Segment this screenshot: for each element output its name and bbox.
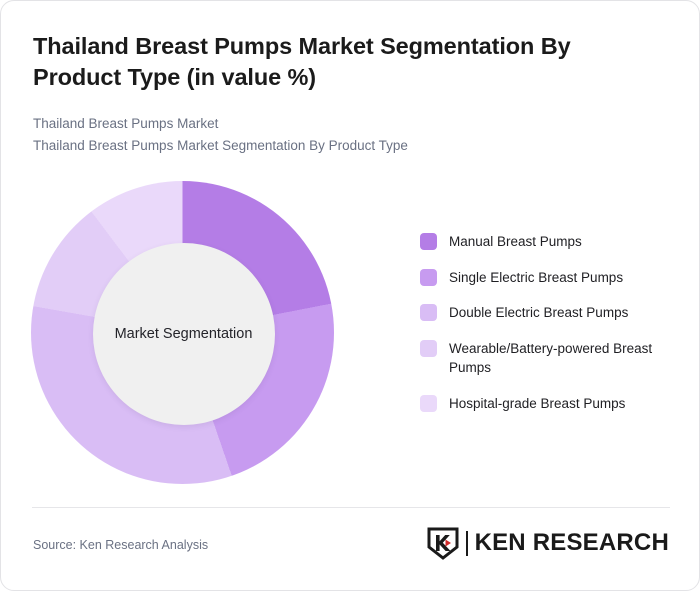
- legend-item[interactable]: Manual Breast Pumps: [420, 232, 670, 251]
- legend-label: Hospital-grade Breast Pumps: [449, 394, 625, 413]
- source-note: Source: Ken Research Analysis: [33, 538, 208, 552]
- donut-center: Market Segmentation: [93, 243, 275, 425]
- legend-item[interactable]: Double Electric Breast Pumps: [420, 303, 670, 322]
- footer-divider: [32, 507, 670, 508]
- ken-shield-icon: [426, 526, 460, 560]
- legend-item[interactable]: Wearable/Battery-powered Breast Pumps: [420, 339, 670, 377]
- donut-chart: Market Segmentation: [31, 181, 336, 486]
- logo-wordmark: KEN RESEARCH: [475, 529, 669, 557]
- subtitle-block: Thailand Breast Pumps Market Thailand Br…: [33, 113, 633, 157]
- legend-swatch-icon: [420, 233, 437, 250]
- legend-swatch-icon: [420, 304, 437, 321]
- donut-center-label: Market Segmentation: [115, 326, 253, 342]
- legend-swatch-icon: [420, 340, 437, 357]
- chart-card: Thailand Breast Pumps Market Segmentatio…: [0, 0, 700, 591]
- legend-label: Single Electric Breast Pumps: [449, 268, 623, 287]
- subtitle-segmentation: Thailand Breast Pumps Market Segmentatio…: [33, 135, 633, 157]
- ken-research-logo: KEN RESEARCH: [426, 525, 669, 561]
- legend-swatch-icon: [420, 395, 437, 412]
- chart-legend: Manual Breast PumpsSingle Electric Breas…: [420, 232, 670, 429]
- legend-item[interactable]: Single Electric Breast Pumps: [420, 268, 670, 287]
- legend-label: Double Electric Breast Pumps: [449, 303, 628, 322]
- page-title: Thailand Breast Pumps Market Segmentatio…: [33, 31, 633, 94]
- legend-swatch-icon: [420, 269, 437, 286]
- logo-separator: [466, 531, 468, 556]
- subtitle-market: Thailand Breast Pumps Market: [33, 113, 633, 135]
- legend-label: Wearable/Battery-powered Breast Pumps: [449, 339, 659, 377]
- legend-item[interactable]: Hospital-grade Breast Pumps: [420, 394, 670, 413]
- legend-label: Manual Breast Pumps: [449, 232, 582, 251]
